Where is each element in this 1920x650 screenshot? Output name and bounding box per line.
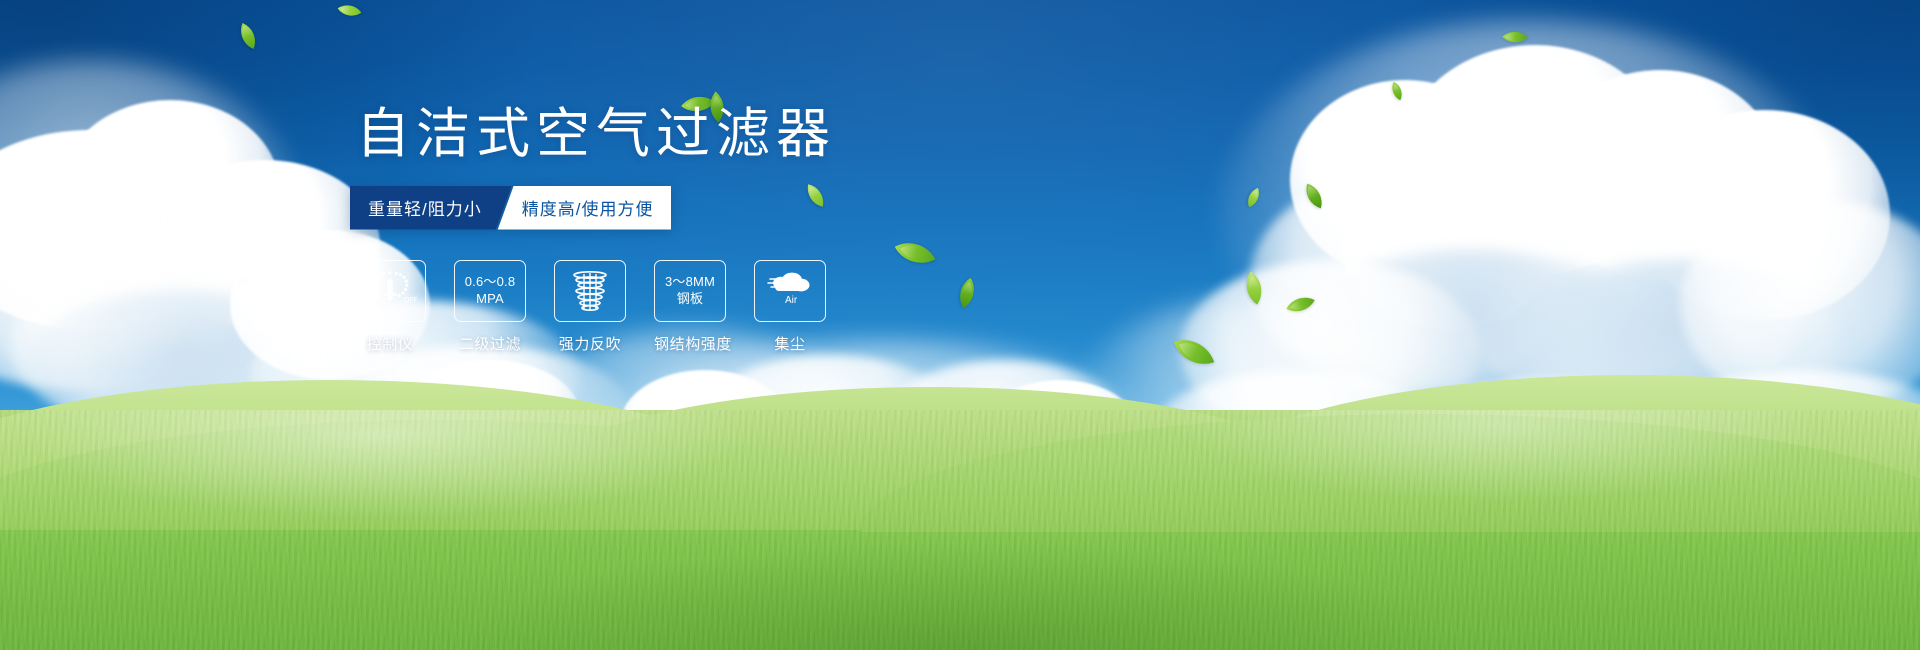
feature-label-controller: 控制仪 (354, 333, 426, 354)
feature-label-strong-blowback: 强力反吹 (554, 333, 626, 354)
air-label: Air (785, 295, 798, 306)
feature-icon-box: NO OFF (354, 260, 426, 322)
steel-plate-text-icon: 3～8MM 钢板 (665, 274, 715, 307)
tab-precision-easyuse[interactable]: 精度高/使用方便 (498, 186, 672, 230)
page-title: 自洁式空气过滤器 (356, 104, 990, 166)
feature-item-controller[interactable]: NO OFF 控制仪 (354, 260, 426, 354)
hero-banner: 自洁式空气过滤器 重量轻/阻力小 精度高/使用方便 (0, 0, 1920, 650)
dial-min-label: NO (367, 294, 378, 301)
banner-content: 自洁式空气过滤器 重量轻/阻力小 精度高/使用方便 (350, 104, 990, 354)
feature-icon-box: 3～8MM 钢板 (654, 260, 726, 322)
feature-icon-box (554, 260, 626, 322)
coil-blowback-icon (567, 268, 613, 314)
feature-label-dust-collection: 集尘 (754, 333, 826, 354)
feature-item-secondary-filtration[interactable]: 0.6～0.8 MPA 二级过滤 (454, 260, 526, 354)
feature-list: NO OFF 控制仪 0.6～0.8 MPA 二级过滤 (354, 260, 990, 354)
dial-max-label: OFF (404, 297, 417, 304)
feature-item-strong-blowback[interactable]: 强力反吹 (554, 260, 626, 354)
air-cloud-icon: Air (765, 270, 815, 310)
feature-label-secondary-filtration: 二级过滤 (454, 333, 526, 354)
tab-group: 重量轻/阻力小 精度高/使用方便 (350, 186, 670, 230)
feature-label-steel-strength: 钢结构强度 (654, 333, 726, 354)
feature-icon-box: Air (754, 260, 826, 322)
tab-lightweight-lowresistance[interactable]: 重量轻/阻力小 (350, 186, 512, 230)
feature-item-dust-collection[interactable]: Air 集尘 (754, 260, 826, 354)
feature-icon-box: 0.6～0.8 MPA (454, 260, 526, 322)
feature-item-steel-strength[interactable]: 3～8MM 钢板 钢结构强度 (654, 260, 726, 354)
control-dial-icon: NO OFF (363, 269, 417, 313)
pressure-text-icon: 0.6～0.8 MPA (465, 274, 516, 307)
